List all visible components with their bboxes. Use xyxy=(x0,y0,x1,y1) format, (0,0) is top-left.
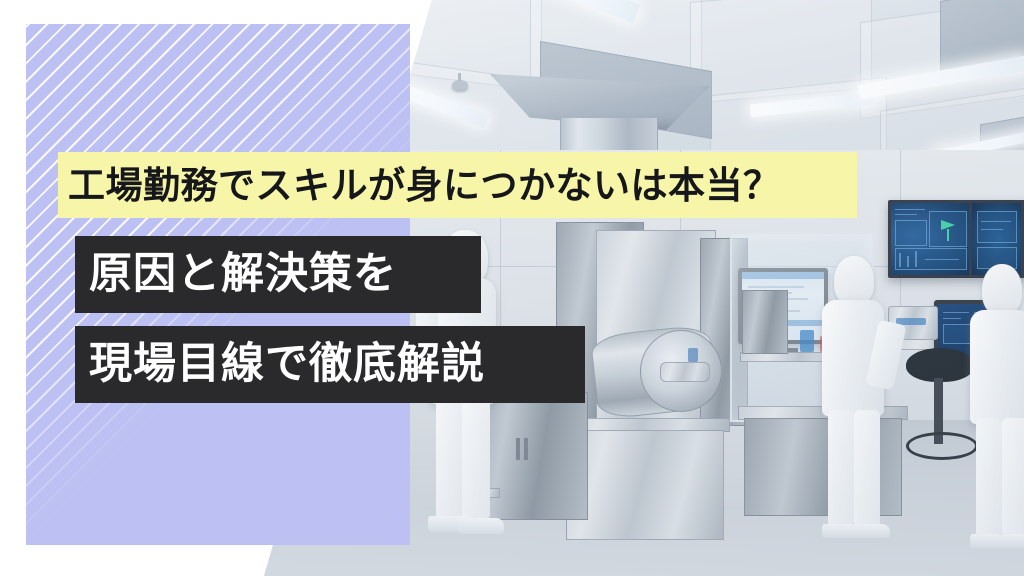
worker-right-suit xyxy=(970,310,1024,424)
smoke-detector-icon xyxy=(452,80,468,90)
worker-mid-shoe xyxy=(852,524,890,538)
worker-mid-leg xyxy=(828,410,854,528)
worker-left-leg xyxy=(436,398,464,520)
worker-mid-leg xyxy=(854,410,880,528)
worker-right-leg xyxy=(1002,418,1024,538)
ceiling-panels xyxy=(380,0,1024,172)
title-text: 工場勤務でスキルが身につかないは本当？ xyxy=(68,167,781,204)
worker-right-shoe xyxy=(970,534,1004,548)
work-bench-body xyxy=(566,430,724,540)
worker-right xyxy=(968,264,1024,554)
enclosure-inner-unit xyxy=(742,290,788,354)
worker-right-hood xyxy=(982,264,1022,316)
worker-right-shoe xyxy=(1000,534,1024,548)
subtitle-band-1: 原因と解決策を xyxy=(75,236,481,313)
thumbnail-canvas: 工場勤務でスキルが身につかないは本当？ 原因と解決策を 現場目線で徹底解説 xyxy=(0,0,1024,576)
machine-nozzle xyxy=(660,362,710,382)
title-band: 工場勤務でスキルが身につかないは本当？ xyxy=(58,152,857,218)
worker-mid-hood xyxy=(834,256,874,306)
subtitle-text-1: 原因と解決策を xyxy=(89,253,397,296)
worker-mid xyxy=(818,256,910,546)
worker-left-leg xyxy=(462,398,490,520)
office-chair-seat xyxy=(906,348,974,382)
subtitle-band-2: 現場目線で徹底解説 xyxy=(75,326,585,403)
worker-right-leg xyxy=(976,418,1002,538)
subtitle-text-2: 現場目線で徹底解説 xyxy=(89,343,485,386)
worker-left-shoe xyxy=(458,518,504,534)
